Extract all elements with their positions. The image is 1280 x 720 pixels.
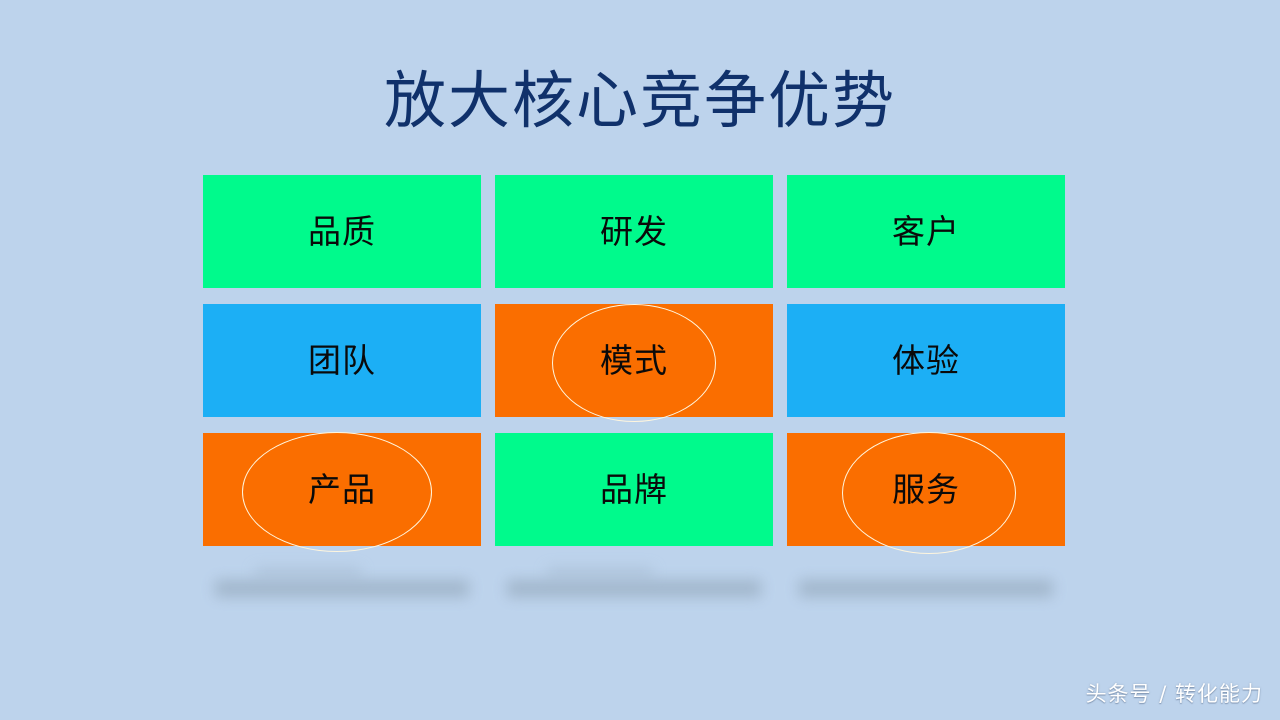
matrix-cell-label: 客户 (892, 215, 960, 248)
caption-placeholder (203, 566, 481, 608)
matrix-cell-team[interactable]: 团队 (203, 304, 481, 417)
matrix-cell-rnd[interactable]: 研发 (495, 175, 773, 288)
matrix-cell-label: 团队 (308, 344, 376, 377)
matrix-cell-product[interactable]: 产品 (203, 433, 481, 546)
matrix-cell-label: 品质 (308, 215, 376, 248)
matrix-cell-label: 品牌 (600, 473, 668, 506)
matrix-cell-label: 体验 (892, 344, 960, 377)
matrix-cell-label: 服务 (892, 473, 960, 506)
caption-placeholder (495, 566, 773, 608)
matrix-cell-experience[interactable]: 体验 (787, 304, 1065, 417)
caption-blur-bar (507, 580, 761, 597)
caption-blur-bar (255, 568, 361, 577)
watermark-label: 头条号 / 转化能力 (1086, 681, 1263, 707)
matrix-cell-label: 研发 (600, 215, 668, 248)
caption-placeholder (787, 566, 1065, 608)
matrix-cell-label: 产品 (308, 473, 376, 506)
matrix-cell-label: 模式 (600, 344, 668, 377)
slide-canvas: 放大核心竞争优势 品质 研发 客户 团队 模式 体验 (0, 0, 1280, 720)
caption-blur-bar (799, 580, 1053, 597)
page-title: 放大核心竞争优势 (0, 62, 1280, 140)
caption-placeholder-row (203, 566, 1065, 608)
advantage-matrix: 品质 研发 客户 团队 模式 体验 产品 (203, 175, 1065, 546)
matrix-cell-quality[interactable]: 品质 (203, 175, 481, 288)
matrix-cell-mode[interactable]: 模式 (495, 304, 773, 417)
matrix-cell-customer[interactable]: 客户 (787, 175, 1065, 288)
caption-blur-bar (215, 580, 469, 597)
matrix-cell-brand[interactable]: 品牌 (495, 433, 773, 546)
matrix-cell-service[interactable]: 服务 (787, 433, 1065, 546)
caption-blur-bar (547, 568, 653, 577)
